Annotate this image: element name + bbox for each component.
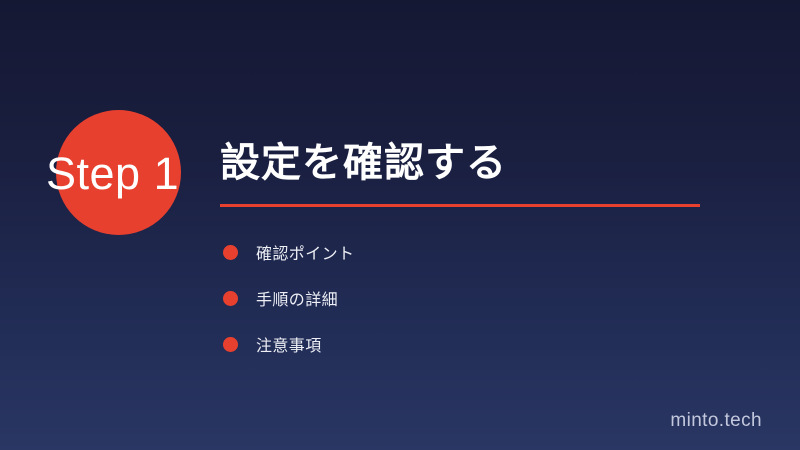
list-item: 確認ポイント <box>220 229 740 275</box>
slide-title: 設定を確認する <box>220 140 740 186</box>
bullet-dot-icon <box>223 245 238 260</box>
footer-watermark: minto.tech <box>670 410 762 432</box>
list-item-label: 注意事項 <box>256 332 322 356</box>
list-item-label: 手順の詳細 <box>256 286 338 310</box>
slide-canvas: Step 1 設定を確認する 確認ポイント 手順の詳細 注意事項 minto.t… <box>0 0 800 450</box>
step-circle-shape <box>56 110 181 235</box>
list-item: 注意事項 <box>220 321 740 367</box>
list-item-label: 確認ポイント <box>256 240 354 264</box>
list-item: 手順の詳細 <box>220 275 740 321</box>
bullet-dot-icon <box>223 291 238 306</box>
title-underline-rule <box>220 204 700 207</box>
slide-content: 設定を確認する 確認ポイント 手順の詳細 注意事項 <box>220 140 740 367</box>
bullet-list: 確認ポイント 手順の詳細 注意事項 <box>220 229 740 367</box>
bullet-dot-icon <box>223 337 238 352</box>
